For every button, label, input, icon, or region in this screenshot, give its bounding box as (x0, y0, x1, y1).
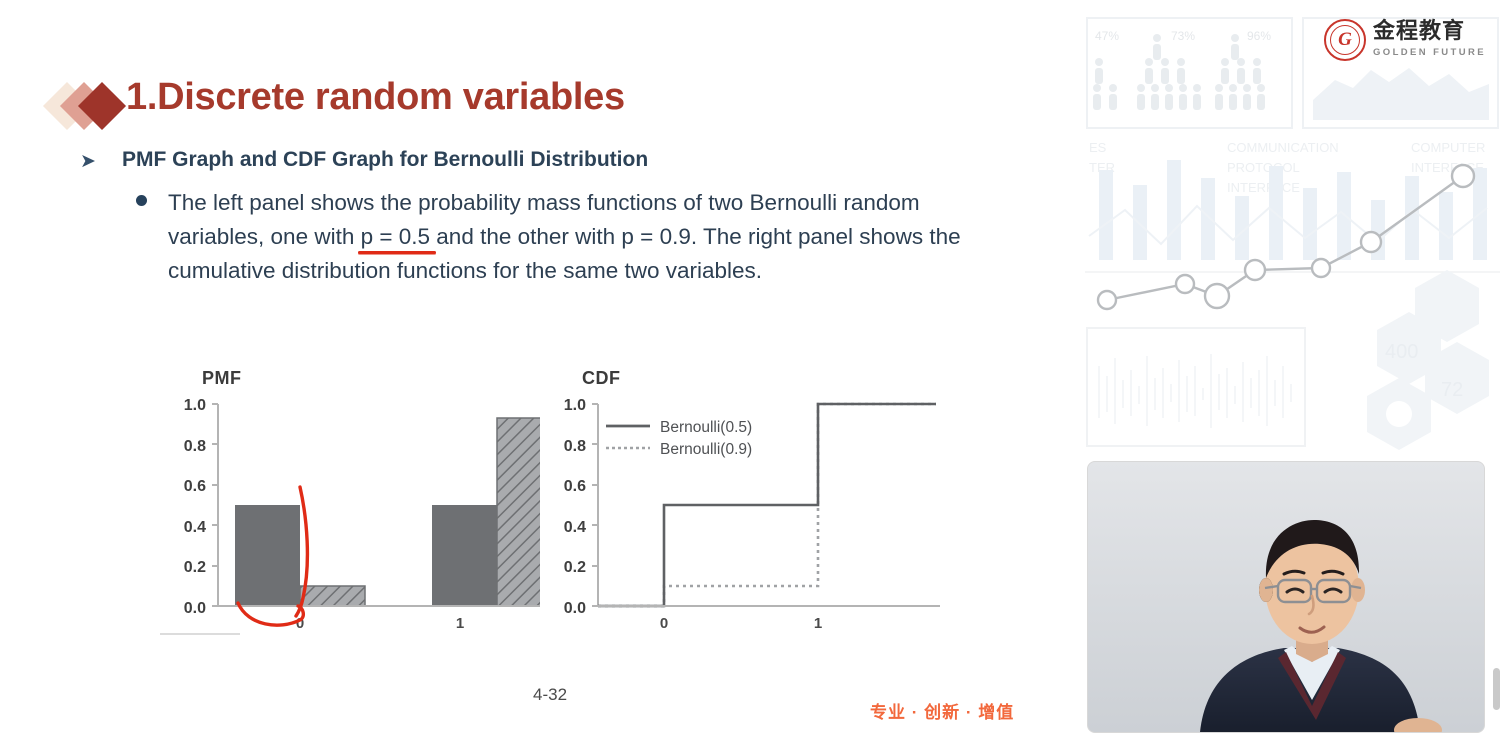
svg-text:400: 400 (1385, 341, 1418, 363)
svg-text:0.6: 0.6 (184, 478, 206, 495)
presentation-slide: 1.Discrete random variables ➤ PMF Graph … (0, 0, 1085, 750)
pmf-y-ticks: 1.0 0.8 0.6 0.4 0.2 0.0 (184, 397, 218, 617)
page-number: 4-32 (533, 685, 567, 705)
underlined-annotation-text: p = 0.5 (361, 224, 430, 249)
cdf-xtick-1: 1 (814, 615, 822, 632)
svg-text:73%: 73% (1171, 29, 1195, 43)
body-text: The left panel shows the probability mas… (168, 186, 1008, 288)
brand-seal-icon: G (1324, 19, 1366, 61)
background-infographic: 47% 73% 96% (1085, 0, 1500, 460)
pmf-xtick-1: 1 (456, 615, 464, 632)
brand-logo: G 金程教育 GOLDEN FUTURE (1324, 18, 1486, 62)
svg-text:1.0: 1.0 (184, 397, 206, 414)
svg-text:0.6: 0.6 (564, 478, 586, 495)
svg-text:PROTOCOL: PROTOCOL (1227, 160, 1300, 175)
right-side-panel: 47% 73% 96% (1085, 0, 1500, 750)
svg-text:COMPUTER: COMPUTER (1411, 140, 1485, 155)
svg-text:0.4: 0.4 (184, 519, 206, 536)
svg-text:47%: 47% (1095, 29, 1119, 43)
pmf-chart-panel: PMF 1.0 (160, 358, 540, 643)
video-frame (1088, 462, 1484, 732)
svg-text:72: 72 (1441, 379, 1463, 401)
svg-text:1.0: 1.0 (564, 397, 586, 414)
scrollbar-thumb[interactable] (1493, 668, 1500, 710)
pmf-bar-1-bernoulli09 (497, 418, 540, 606)
pmf-bar-0-bernoulli09 (300, 586, 365, 606)
brand-name-en: GOLDEN FUTURE (1373, 47, 1486, 58)
cdf-xtick-0: 0 (660, 615, 668, 632)
cdf-series-bernoulli05 (598, 404, 936, 606)
brand-name-cn: 金程教育 (1373, 19, 1465, 44)
svg-text:0.2: 0.2 (184, 559, 206, 576)
charts-container: PMF 1.0 (160, 358, 940, 643)
cdf-legend: Bernoulli(0.5) Bernoulli(0.9) (606, 419, 752, 458)
legend-label-bernoulli05: Bernoulli(0.5) (660, 419, 752, 436)
pmf-bar-0-bernoulli05 (235, 505, 300, 606)
subheading: PMF Graph and CDF Graph for Bernoulli Di… (122, 148, 648, 172)
dot-bullet-icon (136, 195, 147, 206)
svg-text:0.8: 0.8 (184, 438, 206, 455)
seal-glyph: G (1326, 29, 1364, 51)
arrow-bullet-icon: ➤ (80, 152, 96, 171)
legend-label-bernoulli09: Bernoulli(0.9) (660, 441, 752, 458)
svg-text:INTERFACE: INTERFACE (1227, 180, 1300, 195)
svg-text:ES: ES (1089, 140, 1107, 155)
cdf-chart-panel: CDF 1.0 0.8 0.6 0.4 0.2 0.0 (540, 358, 940, 643)
svg-text:96%: 96% (1247, 29, 1271, 43)
svg-text:0.4: 0.4 (564, 519, 586, 536)
cdf-plot: 1.0 0.8 0.6 0.4 0.2 0.0 0 1 Bern (540, 358, 940, 643)
pmf-plot: 1.0 0.8 0.6 0.4 0.2 0.0 0 1 (160, 358, 540, 643)
footer-slogan: 专业 · 创新 · 增值 (870, 698, 1014, 723)
page-title: 1.Discrete random variables (126, 76, 625, 119)
svg-text:0.2: 0.2 (564, 559, 586, 576)
svg-text:0.0: 0.0 (184, 600, 206, 617)
svg-text:0.0: 0.0 (564, 600, 586, 617)
cdf-y-ticks: 1.0 0.8 0.6 0.4 0.2 0.0 (564, 397, 598, 617)
svg-text:0.8: 0.8 (564, 438, 586, 455)
pmf-bar-1-bernoulli05 (432, 505, 497, 606)
instructor-video-feed[interactable] (1088, 462, 1484, 732)
svg-text:COMMUNICATION: COMMUNICATION (1227, 140, 1339, 155)
